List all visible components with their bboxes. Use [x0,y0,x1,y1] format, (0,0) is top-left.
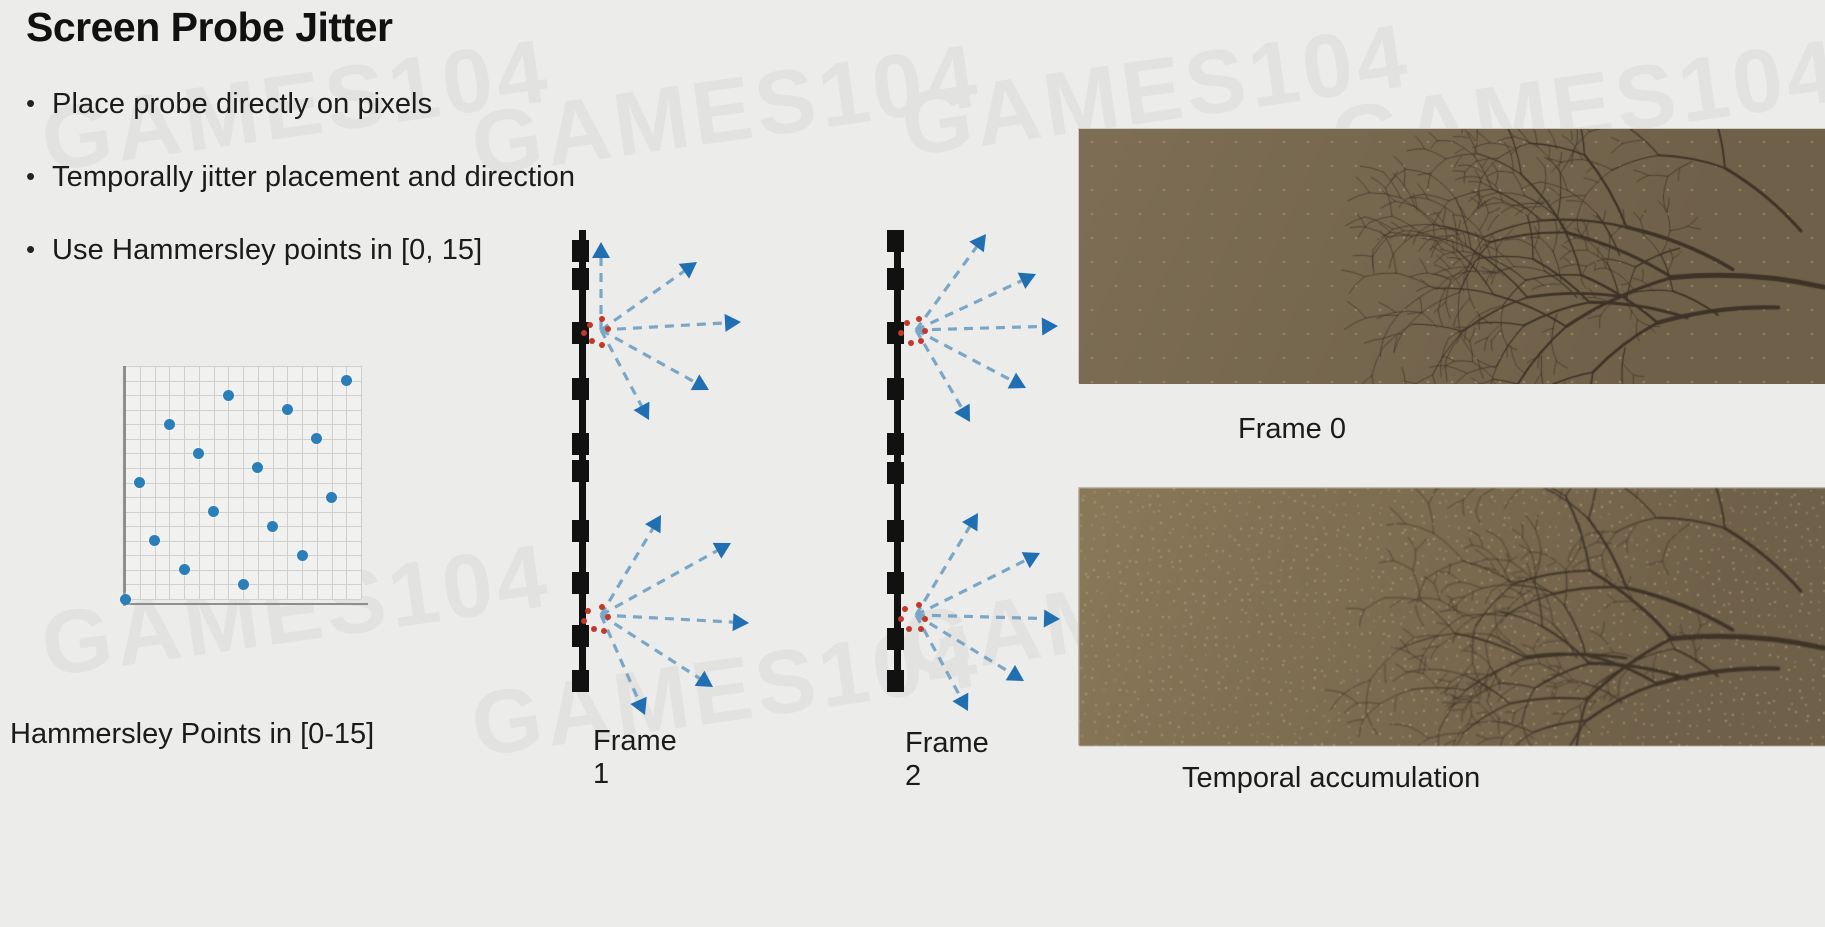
frame-1-label-line2: 1 [593,758,677,791]
chart-gridline-horizontal [125,483,361,484]
bullet-list: • Place probe directly on pixels • Tempo… [26,88,646,307]
probe-ray-arrowhead-icon [1006,665,1024,681]
render-temporal-accumulation-caption: Temporal accumulation [1182,762,1480,795]
bullet-marker-icon: • [26,234,52,264]
probe-point [898,330,904,336]
probe-point [589,338,595,344]
render-frame-0-image [1079,129,1825,384]
probe-point [585,608,591,614]
chart-gridline-horizontal [125,395,361,396]
chart-gridline-horizontal [125,526,361,527]
probe-point [916,602,922,608]
chart-gridline-horizontal [125,512,361,513]
frame-1-label-line1: Frame [593,725,677,758]
probe-ray-line [601,529,653,615]
probe-point [904,320,910,326]
probe-point [922,616,928,622]
bullet-marker-icon: • [26,161,52,191]
bullet-item: • Temporally jitter placement and direct… [26,161,646,193]
scatter-point [238,579,249,590]
scatter-point [326,492,337,503]
scatter-point [341,375,352,386]
probe-ray-line [916,527,970,615]
probe-point [898,616,904,622]
probe-ray-line [601,615,733,622]
chart-gridline-horizontal [125,366,361,367]
probe-ray-arrowhead-icon [1044,610,1060,628]
probe-point [599,316,605,322]
chart-gridline-horizontal [125,410,361,411]
probe-point [599,604,605,610]
probe-ray-line [916,281,1022,330]
probe-point [581,330,587,336]
chart-gridline-horizontal [125,541,361,542]
render-frame-0 [1078,128,1825,383]
scatter-point [297,550,308,561]
probe-ray-group [565,230,795,690]
probe-ray-group [880,230,1110,690]
probe-ray-line [601,271,684,330]
probe-ray-line [916,560,1026,615]
scatter-point [120,594,131,605]
frame-2-label: Frame 2 [905,727,989,793]
probe-point [902,606,908,612]
scatter-point [282,404,293,415]
probe-ray-arrowhead-icon [592,242,610,258]
scatter-point [164,419,175,430]
render-frame-0-caption: Frame 0 [1238,413,1346,446]
probe-ray-arrowhead-icon [725,314,741,332]
probe-ray-line [601,323,725,330]
probe-ray-arrowhead-icon [1022,552,1040,568]
probe-point [916,316,922,322]
chart-gridline-vertical [361,366,362,599]
probe-point [601,628,607,634]
chart-gridline-horizontal [125,555,361,556]
chart-x-axis [123,603,368,605]
probe-point [922,328,928,334]
probe-ray-arrowhead-icon [691,374,709,390]
bullet-text: Use Hammersley points in [0, 15] [52,234,482,266]
probe-point [599,342,605,348]
probe-ray-line [916,326,1042,330]
probe-ray-arrowhead-icon [969,234,986,252]
frame-2-diagram [880,230,1110,690]
render-temporal-accumulation-image [1079,488,1825,746]
probe-point [587,322,593,328]
hammersley-scatter-chart [118,366,368,606]
frame-1-label: Frame 1 [593,725,677,791]
probe-point [605,614,611,620]
chart-gridline-horizontal [125,599,361,600]
frame-1-diagram [565,230,795,690]
probe-point [918,626,924,632]
probe-ray-line [916,330,1012,381]
probe-ray-arrowhead-icon [952,693,968,711]
frame-2-label-line2: 2 [905,760,989,793]
probe-ray-arrowhead-icon [695,671,713,687]
chart-gridline-horizontal [125,453,361,454]
bullet-item: • Use Hammersley points in [0, 15] [26,234,646,266]
probe-ray-arrowhead-icon [733,613,749,631]
probe-ray-arrowhead-icon [954,404,970,422]
probe-point [581,618,587,624]
chart-grid [125,366,361,599]
probe-point [908,340,914,346]
bullet-item: • Place probe directly on pixels [26,88,646,120]
probe-ray-arrowhead-icon [679,262,697,279]
chart-gridline-horizontal [125,570,361,571]
probe-point [906,626,912,632]
scatter-point [223,390,234,401]
chart-gridline-horizontal [125,468,361,469]
bullet-marker-icon: • [26,88,52,118]
probe-ray-line [916,615,1044,619]
render-temporal-accumulation [1078,487,1825,745]
probe-ray-arrowhead-icon [630,697,646,715]
bullet-text: Temporally jitter placement and directio… [52,161,575,193]
chart-gridline-horizontal [125,439,361,440]
scatter-point [267,521,278,532]
scatter-point [179,564,190,575]
chart-gridline-horizontal [125,381,361,382]
probe-ray-arrowhead-icon [1008,373,1026,389]
probe-ray-arrowhead-icon [1042,317,1058,335]
probe-ray-line [601,330,695,382]
probe-point [918,338,924,344]
chart-y-axis [123,366,126,606]
probe-ray-line [601,551,717,615]
frame-2-label-line1: Frame [905,727,989,760]
page-title: Screen Probe Jitter [26,4,393,51]
hammersley-caption: Hammersley Points in [0-15] [10,718,374,751]
probe-point [591,626,597,632]
chart-gridline-horizontal [125,424,361,425]
probe-point [605,326,611,332]
bullet-text: Place probe directly on pixels [52,88,432,120]
